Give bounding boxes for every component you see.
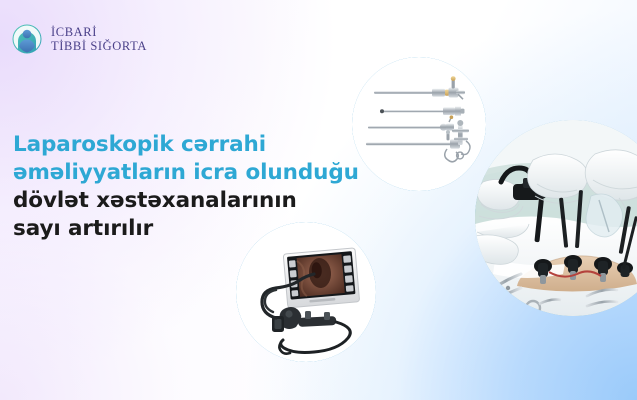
- image-surgery: [475, 120, 637, 316]
- logo-line-2: TİBBİ SIĞORTA: [51, 39, 147, 53]
- headline-line-2: əməliyyatların icra olunduğu: [13, 159, 343, 187]
- image-instruments: [352, 57, 486, 191]
- banner: İCBARİ TİBBİ SIĞORTA Laparoskopik cərrah…: [0, 0, 637, 400]
- headline-line-3: dövlət xəstəxanalarının: [13, 187, 343, 215]
- logo-text: İCBARİ TİBBİ SIĞORTA: [51, 25, 147, 53]
- logo-line-1: İCBARİ: [51, 25, 147, 39]
- circular-person-emblem-icon: [12, 24, 42, 54]
- endoscope-with-monitor-illustration: [236, 222, 376, 362]
- logo[interactable]: İCBARİ TİBBİ SIĞORTA: [12, 24, 147, 54]
- laparoscopic-instruments-illustration: [352, 57, 486, 191]
- laparoscopic-surgery-illustration: [475, 120, 637, 316]
- headline-line-1: Laparoskopik cərrahi: [13, 131, 343, 159]
- image-endoscope: [236, 222, 376, 362]
